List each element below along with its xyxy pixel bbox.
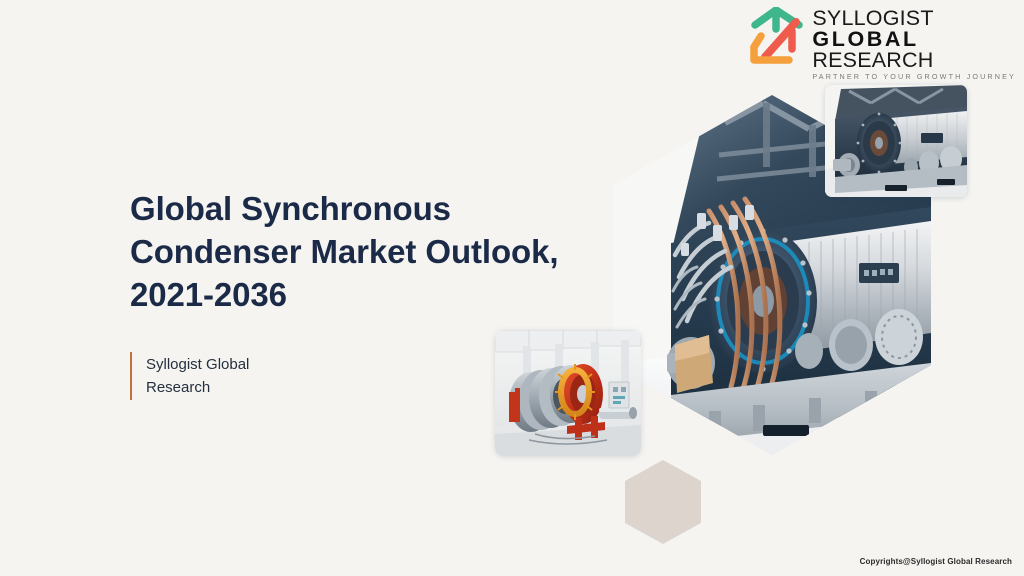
footer-copyright: Copyrights@Syllogist Global Research xyxy=(860,557,1012,566)
inset-image-bottomleft xyxy=(495,330,641,456)
decorative-hexagon xyxy=(625,460,701,544)
subtitle-block: Syllogist Global Research xyxy=(130,352,249,400)
logo-text-global: GLOBAL xyxy=(812,29,918,50)
inset-image-topright xyxy=(825,85,967,197)
syllogist-chevron-mark-icon xyxy=(748,7,806,65)
presentation-slide: SYLLOGIST GLOBAL RESEARCH PARTNER TO YOU… xyxy=(0,0,1024,576)
subtitle-text: Syllogist Global Research xyxy=(146,352,249,400)
image-collage xyxy=(470,60,1024,560)
logo-text-syllogist: SYLLOGIST xyxy=(812,8,933,29)
subtitle-accent-bar xyxy=(130,352,132,400)
